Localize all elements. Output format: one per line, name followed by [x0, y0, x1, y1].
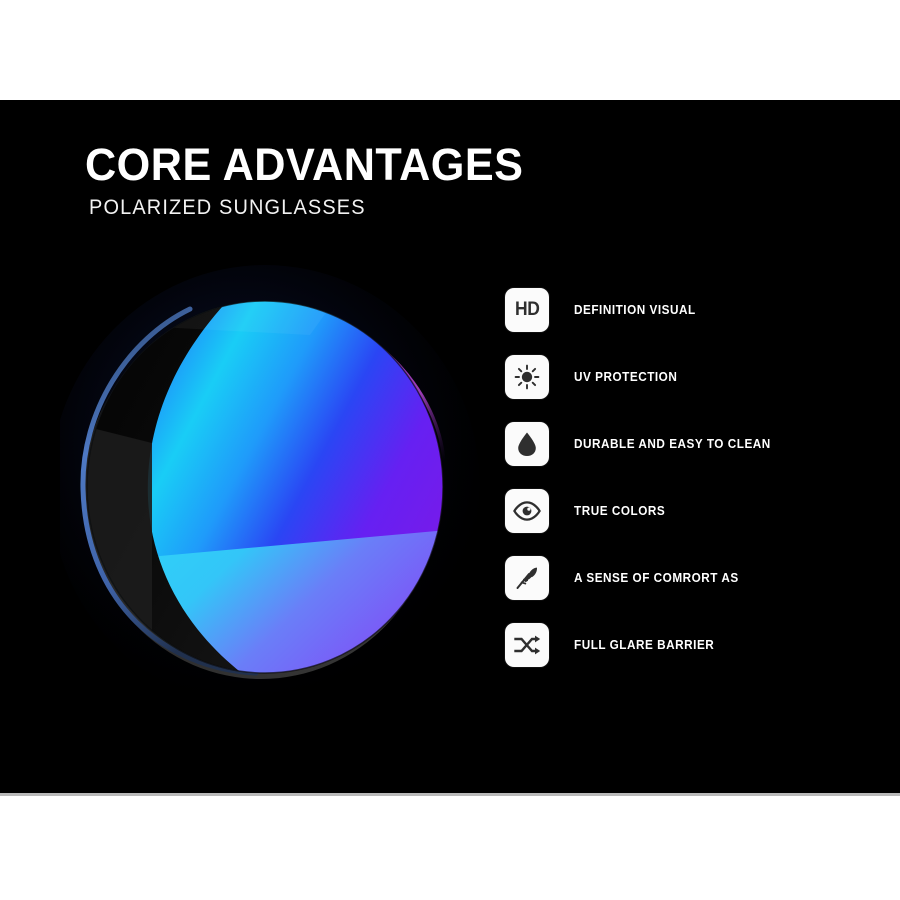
- shuffle-icon: [505, 623, 549, 667]
- feature-list: HD DEFINITION VISUAL: [505, 288, 875, 690]
- hd-icon: HD: [505, 288, 549, 332]
- feature-label: DEFINITION VISUAL: [574, 303, 696, 317]
- feature-label: A SENSE OF COMRORT AS: [574, 571, 739, 585]
- lens-illustration: [60, 265, 480, 705]
- eye-icon: [505, 489, 549, 533]
- feature-row: UV PROTECTION: [505, 355, 875, 399]
- feature-row: DURABLE AND EASY TO CLEAN: [505, 422, 875, 466]
- feature-row: HD DEFINITION VISUAL: [505, 288, 875, 332]
- sun-icon: [505, 355, 549, 399]
- feature-label: FULL GLARE BARRIER: [574, 638, 714, 652]
- feature-row: TRUE COLORS: [505, 489, 875, 533]
- feature-row: FULL GLARE BARRIER: [505, 623, 875, 667]
- droplet-icon: [505, 422, 549, 466]
- feather-icon: [505, 556, 549, 600]
- product-lens-image: [60, 265, 480, 705]
- feature-label: TRUE COLORS: [574, 504, 665, 518]
- product-infographic-panel: CORE ADVANTAGES POLARIZED SUNGLASSES: [0, 100, 900, 793]
- feature-row: A SENSE OF COMRORT AS: [505, 556, 875, 600]
- hd-icon-label: HD: [515, 299, 539, 321]
- page-subtitle: POLARIZED SUNGLASSES: [89, 197, 519, 218]
- panel-underline: [0, 793, 900, 796]
- heading-block: CORE ADVANTAGES POLARIZED SUNGLASSES: [85, 142, 542, 218]
- feature-label: UV PROTECTION: [574, 370, 677, 384]
- feature-label: DURABLE AND EASY TO CLEAN: [574, 437, 771, 451]
- page-title: CORE ADVANTAGES: [85, 142, 523, 187]
